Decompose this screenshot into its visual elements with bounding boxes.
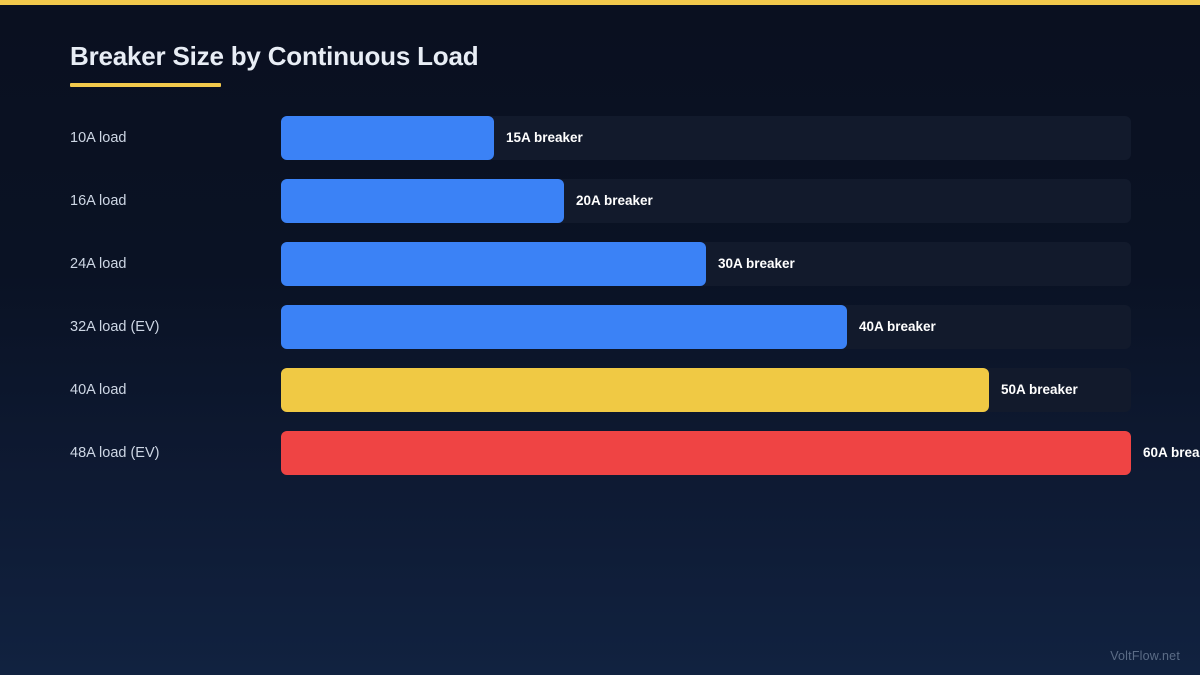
bar-value-label: 50A breaker: [1001, 368, 1078, 412]
watermark: VoltFlow.net: [1110, 649, 1180, 663]
bar-category-label: 10A load: [70, 116, 126, 160]
bar-fill: [281, 179, 564, 223]
bar-value-label: 15A breaker: [506, 116, 583, 160]
bar-row: 40A load50A breaker: [0, 368, 1200, 412]
page-title: Breaker Size by Continuous Load: [70, 42, 478, 71]
bar-category-label: 24A load: [70, 242, 126, 286]
bar-category-label: 48A load (EV): [70, 431, 159, 475]
bar-fill: [281, 242, 706, 286]
bar-category-label: 40A load: [70, 368, 126, 412]
bar-category-label: 32A load (EV): [70, 305, 159, 349]
bar-row: 16A load20A breaker: [0, 179, 1200, 223]
bar-value-label: 20A breaker: [576, 179, 653, 223]
bar-track: [281, 305, 1131, 349]
bar-row: 48A load (EV)60A breaker: [0, 431, 1200, 475]
bar-fill: [281, 431, 1131, 475]
top-accent-bar: [0, 0, 1200, 5]
bar-fill: [281, 368, 989, 412]
bar-track: [281, 179, 1131, 223]
bar-row: 10A load15A breaker: [0, 116, 1200, 160]
bar-track: [281, 116, 1131, 160]
bar-chart: 10A load15A breaker16A load20A breaker24…: [0, 116, 1200, 494]
bar-row: 24A load30A breaker: [0, 242, 1200, 286]
bar-value-label: 40A breaker: [859, 305, 936, 349]
bar-track: [281, 431, 1131, 475]
bar-category-label: 16A load: [70, 179, 126, 223]
bar-track: [281, 242, 1131, 286]
bar-row: 32A load (EV)40A breaker: [0, 305, 1200, 349]
chart-header: Breaker Size by Continuous Load: [70, 42, 478, 87]
bar-fill: [281, 116, 494, 160]
title-underline: [70, 83, 221, 87]
bar-value-label: 30A breaker: [718, 242, 795, 286]
bar-value-label: 60A breaker: [1143, 431, 1200, 475]
bar-fill: [281, 305, 847, 349]
